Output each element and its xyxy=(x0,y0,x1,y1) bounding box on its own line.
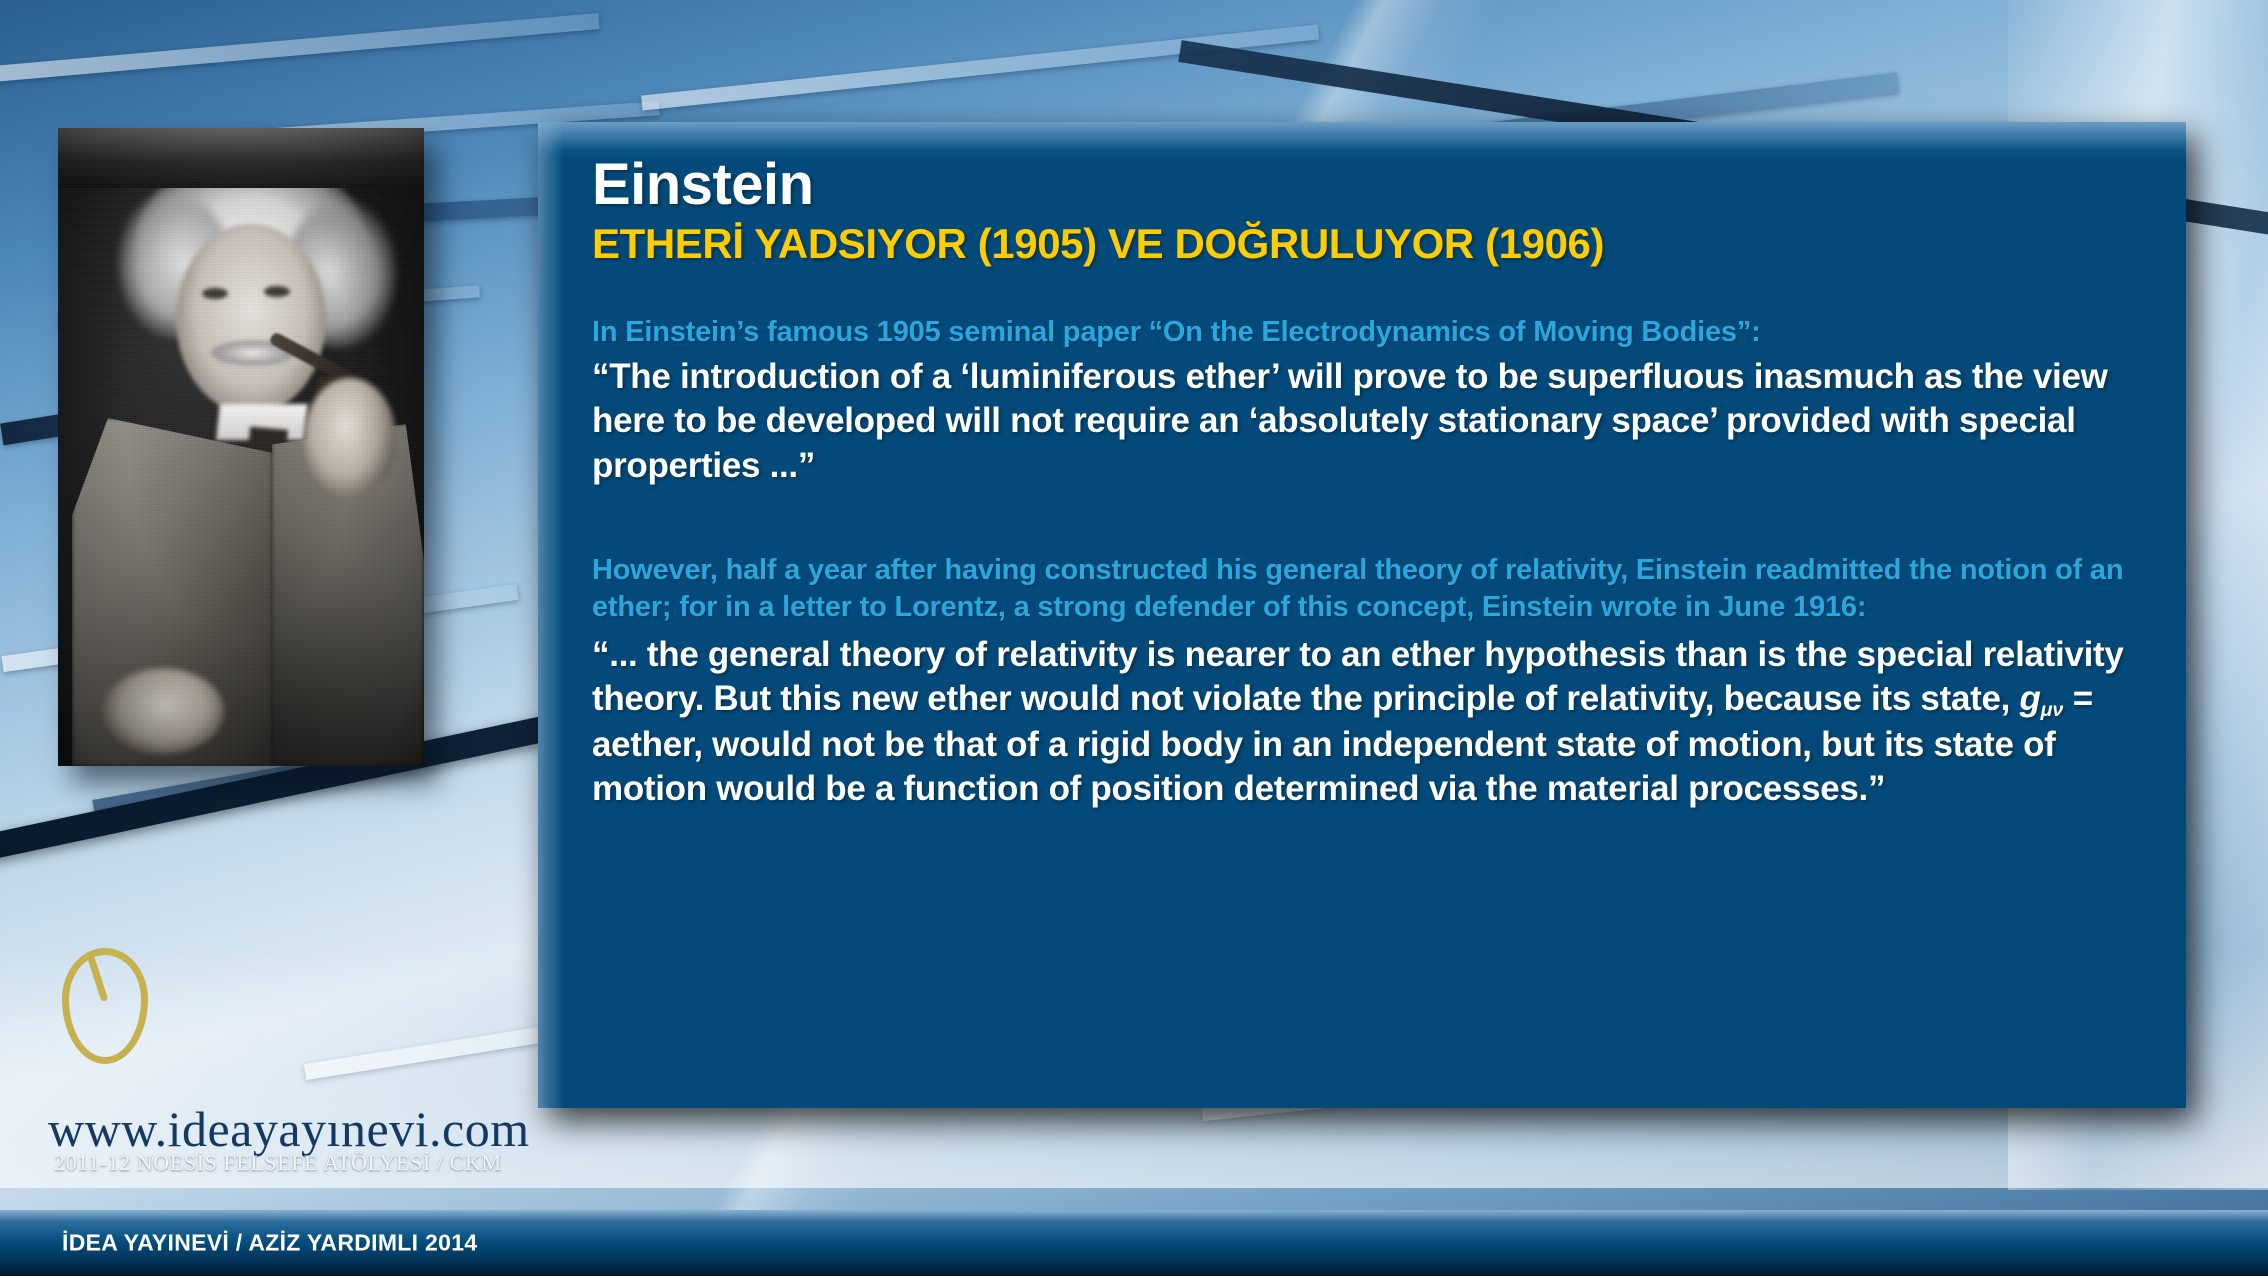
block-1-quote: “The introduction of a ‘luminiferous eth… xyxy=(592,355,2150,487)
einstein-photo-image xyxy=(58,128,424,766)
slide-canvas: Einstein ETHERİ YADSIYOR (1905) VE DOĞRU… xyxy=(0,0,2268,1276)
block-2-quote: “... the general theory of relativity is… xyxy=(592,633,2150,811)
metric-tensor-symbol: gμν xyxy=(2019,679,2063,718)
metric-tensor-base: g xyxy=(2019,679,2040,718)
publisher-caption: 2011-12 NOESİS FELSEFE ATÖLYESİ / CKM xyxy=(54,1150,502,1176)
content-panel: Einstein ETHERİ YADSIYOR (1905) VE DOĞRU… xyxy=(538,122,2186,1108)
block-2-quote-part-1: “... the general theory of relativity is… xyxy=(592,635,2124,718)
block-2-intro: However, half a year after having constr… xyxy=(592,552,2150,627)
metric-tensor-subscript: μν xyxy=(2041,699,2064,721)
footer-bar: İDEA YAYINEVİ / AZİZ YARDIMLI 2014 xyxy=(0,1210,2268,1276)
footer-credit: İDEA YAYINEVİ / AZİZ YARDIMLI 2014 xyxy=(62,1230,477,1257)
page-subtitle: ETHERİ YADSIYOR (1905) VE DOĞRULUYOR (19… xyxy=(592,221,2150,267)
page-title: Einstein xyxy=(592,154,2150,215)
panel-left-highlight xyxy=(538,122,564,1108)
einstein-photo xyxy=(58,128,424,766)
text-block-1: In Einstein’s famous 1905 seminal paper … xyxy=(592,314,2150,488)
block-1-intro: In Einstein’s famous 1905 seminal paper … xyxy=(592,314,2150,352)
text-block-2: However, half a year after having constr… xyxy=(592,552,2150,811)
panel-content: Einstein ETHERİ YADSIYOR (1905) VE DOĞRU… xyxy=(592,154,2150,811)
